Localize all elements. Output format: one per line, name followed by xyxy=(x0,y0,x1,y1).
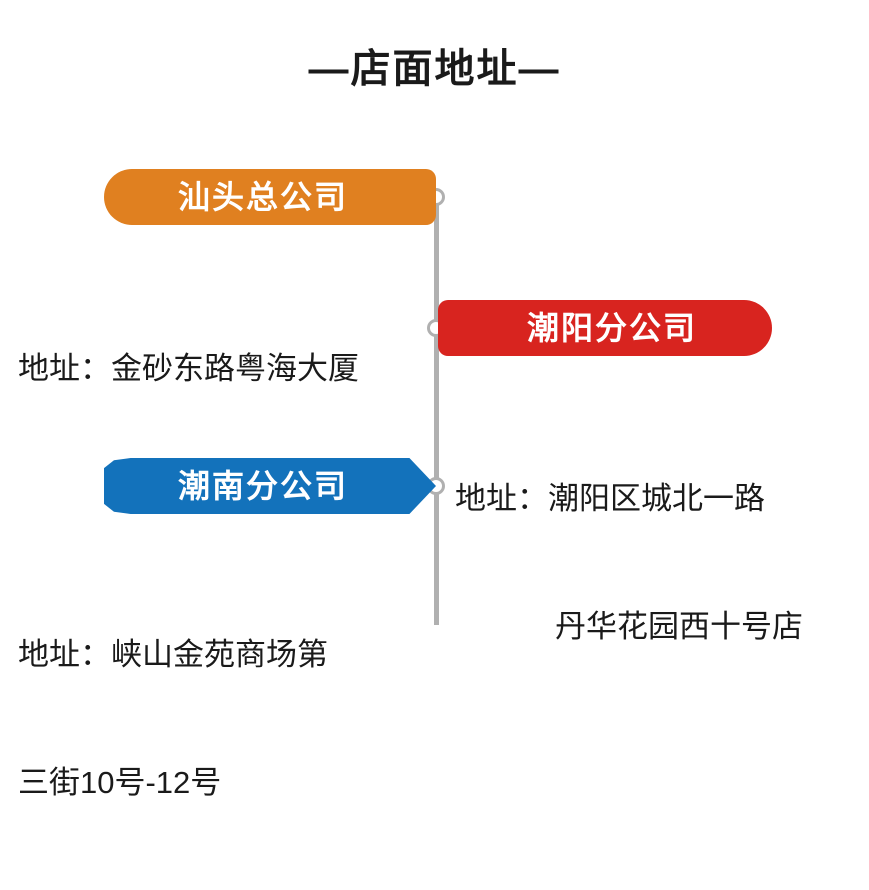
address-infographic: —店面地址— 汕头总公司 地址：金砂东路粤海大厦 B梯1110室 潮阳分公司 地… xyxy=(0,0,869,688)
branch-address-chaonan-line-2: 三街10号-12号 xyxy=(18,762,328,805)
branch-address-chaoyang-line-1: 地址：潮阳区城北一路 xyxy=(455,478,803,521)
branch-address-chaonan: 地址：峡山金苑商场第 三街10号-12号 xyxy=(18,548,328,890)
branch-label-chaoyang: 潮阳分公司 xyxy=(438,300,772,356)
timeline-axis xyxy=(434,197,439,625)
branch-label-shantou: 汕头总公司 xyxy=(104,169,436,225)
page-title: —店面地址— xyxy=(0,36,869,94)
branch-address-chaoyang-line-2: 丹华花园西十号店 xyxy=(455,606,803,649)
branch-address-chaoyang: 地址：潮阳区城北一路 丹华花园西十号店 xyxy=(455,392,803,734)
branch-label-chaonan: 潮南分公司 xyxy=(104,458,436,514)
branch-address-shantou-line-1: 地址：金砂东路粤海大厦 xyxy=(18,348,359,391)
branch-address-chaonan-line-1: 地址：峡山金苑商场第 xyxy=(18,634,328,677)
